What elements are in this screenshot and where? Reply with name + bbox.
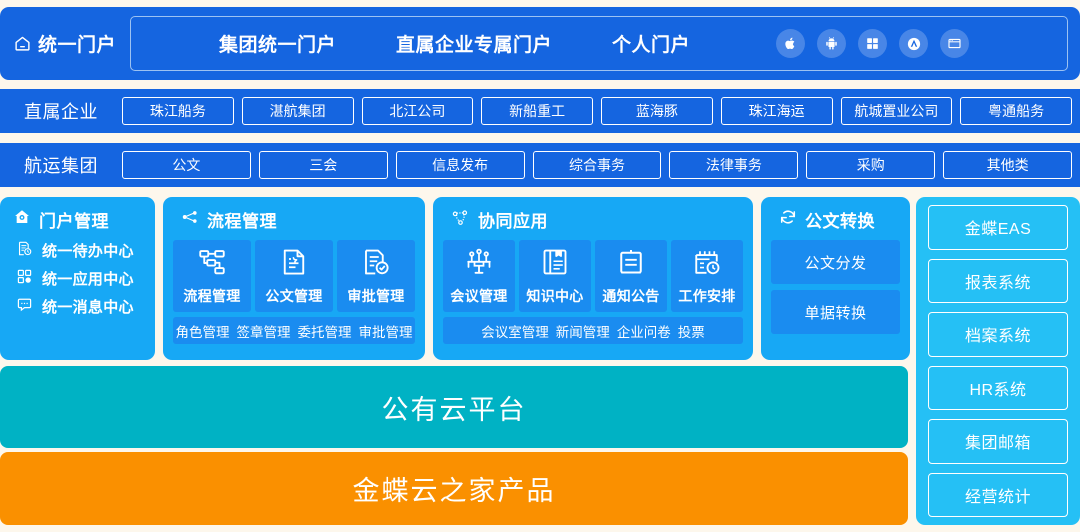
card-title-label: 协同应用 (478, 207, 548, 232)
header-tabbar: 集团统一门户 直属企业专属门户 个人门户 (130, 16, 1068, 71)
bar-label: 金蝶云之家产品 (353, 469, 556, 508)
home-gear-icon (13, 208, 31, 231)
sub-item-meeting-room-management[interactable]: 会议室管理 (481, 321, 549, 341)
tile-meeting-management[interactable]: 会议管理 (443, 240, 515, 312)
nav-btn-subsidiary-0[interactable]: 珠江船务 (122, 97, 234, 125)
sidebar-item-kingdee-eas[interactable]: 金蝶EAS (928, 205, 1068, 250)
collab-tiles: 会议管理 知识中心 (443, 240, 743, 312)
sidebar-item-business-statistics[interactable]: 经营统计 (928, 473, 1068, 518)
tab-personal-portal[interactable]: 个人门户 (582, 30, 720, 57)
nav-row-subsidiaries: 直属企业 珠江船务 湛航集团 北江公司 新船重工 蓝海豚 珠江海运 航城置业公司… (0, 89, 1080, 133)
tile-label: 工作安排 (678, 286, 735, 306)
announcement-board-icon (616, 247, 646, 282)
book-icon (540, 247, 570, 282)
card-document-conversion: 公文转换 公文分发 单据转换 (761, 197, 910, 360)
sub-item-enterprise-survey[interactable]: 企业问卷 (617, 321, 671, 341)
home-icon (14, 35, 31, 52)
tile-label: 公文管理 (265, 286, 322, 306)
todo-list-clock-icon (16, 240, 33, 261)
browser-window-icon[interactable] (940, 29, 969, 58)
sidebar-item-hr-system[interactable]: HR系统 (928, 366, 1068, 411)
document-conversion-buttons: 公文分发 单据转换 (771, 240, 900, 334)
tile-work-schedule[interactable]: 工作安排 (671, 240, 743, 312)
app-grid-icon (16, 268, 33, 289)
card-title-label: 流程管理 (207, 207, 277, 232)
flow-node-icon (181, 208, 199, 231)
portal-architecture-diagram: 统一门户 集团统一门户 直属企业专属门户 个人门户 (0, 0, 1080, 532)
sidebar-item-report-system[interactable]: 报表系统 (928, 259, 1068, 304)
bar-kingdee-cloud-home-product: 金蝶云之家产品 (0, 452, 908, 525)
nav-items-subsidiaries: 珠江船务 湛航集团 北江公司 新船重工 蓝海豚 珠江海运 航城置业公司 粤通船务 (122, 97, 1080, 125)
calendar-clock-icon (692, 247, 722, 282)
brand: 统一门户 (0, 30, 130, 57)
nav-btn-subsidiary-6[interactable]: 航城置业公司 (841, 97, 953, 125)
nav-btn-category-6[interactable]: 其他类 (943, 151, 1072, 179)
tile-document-management[interactable]: 公文管理 (255, 240, 333, 312)
conv-btn-voucher-conversion[interactable]: 单据转换 (771, 290, 900, 334)
nav-btn-category-1[interactable]: 三会 (259, 151, 388, 179)
apple-icon[interactable] (776, 29, 805, 58)
document-check-icon (361, 247, 391, 282)
windows-icon[interactable] (858, 29, 887, 58)
header-bar: 统一门户 集团统一门户 直属企业专属门户 个人门户 (0, 7, 1080, 80)
nav-items-shipping-group: 公文 三会 信息发布 综合事务 法律事务 采购 其他类 (122, 151, 1080, 179)
portal-item-label: 统一待办中心 (42, 240, 134, 261)
collab-sub-items: 会议室管理 新闻管理 企业问卷 投票 (443, 317, 743, 344)
external-systems-sidebar: 金蝶EAS 报表系统 档案系统 HR系统 集团邮箱 经营统计 (916, 197, 1080, 525)
sidebar-item-archive-system[interactable]: 档案系统 (928, 312, 1068, 357)
portal-item-message-center[interactable]: 统一消息中心 (16, 296, 145, 317)
share-nodes-icon (451, 208, 470, 232)
nav-row-label-shipping-group: 航运集团 (0, 152, 122, 178)
appstore-icon[interactable] (899, 29, 928, 58)
document-icon (279, 247, 309, 282)
tile-label: 审批管理 (347, 286, 404, 306)
card-title-portal-management: 门户管理 (10, 207, 145, 232)
process-tiles: 流程管理 公文管理 (173, 240, 415, 312)
bar-public-cloud-platform: 公有云平台 (0, 366, 908, 448)
nav-row-label-subsidiaries: 直属企业 (0, 98, 122, 124)
flowchart-icon (197, 247, 227, 282)
refresh-sync-icon (779, 208, 797, 231)
nav-btn-subsidiary-4[interactable]: 蓝海豚 (601, 97, 713, 125)
card-title-collaborative-application: 协同应用 (443, 207, 743, 232)
portal-item-todo-center[interactable]: 统一待办中心 (16, 240, 145, 261)
nav-btn-category-5[interactable]: 采购 (806, 151, 935, 179)
module-cards: 门户管理 统一待办中心 (0, 197, 908, 360)
sub-item-delegate-management[interactable]: 委托管理 (298, 321, 352, 341)
process-sub-items: 角色管理 签章管理 委托管理 审批管理 (173, 317, 415, 344)
sub-item-vote[interactable]: 投票 (678, 321, 705, 341)
tile-label: 会议管理 (450, 286, 507, 306)
nav-btn-category-0[interactable]: 公文 (122, 151, 251, 179)
portal-item-label: 统一消息中心 (42, 296, 134, 317)
card-title-document-conversion: 公文转换 (771, 207, 900, 232)
nav-btn-subsidiary-2[interactable]: 北江公司 (362, 97, 474, 125)
tile-label: 知识中心 (526, 286, 583, 306)
brand-label: 统一门户 (38, 30, 116, 57)
nav-btn-category-4[interactable]: 法律事务 (669, 151, 798, 179)
conv-btn-document-distribution[interactable]: 公文分发 (771, 240, 900, 284)
tile-process-management[interactable]: 流程管理 (173, 240, 251, 312)
nav-btn-subsidiary-7[interactable]: 粤通船务 (960, 97, 1072, 125)
meeting-people-icon (464, 247, 494, 282)
bar-label: 公有云平台 (382, 388, 527, 427)
tile-approval-management[interactable]: 审批管理 (337, 240, 415, 312)
card-title-process-management: 流程管理 (173, 207, 415, 232)
card-title-label: 门户管理 (39, 207, 109, 232)
sidebar-item-group-mailbox[interactable]: 集团邮箱 (928, 419, 1068, 464)
card-title-label: 公文转换 (805, 207, 875, 232)
portal-management-list: 统一待办中心 统一应用中心 (10, 240, 145, 317)
nav-btn-category-2[interactable]: 信息发布 (396, 151, 525, 179)
portal-tabs: 集团统一门户 直属企业专属门户 个人门户 (131, 30, 720, 57)
tab-group-portal[interactable]: 集团统一门户 (131, 30, 366, 57)
nav-btn-subsidiary-5[interactable]: 珠江海运 (721, 97, 833, 125)
card-collaborative-application: 协同应用 (433, 197, 753, 360)
tile-label: 流程管理 (183, 286, 240, 306)
nav-btn-subsidiary-1[interactable]: 湛航集团 (242, 97, 354, 125)
nav-btn-subsidiary-3[interactable]: 新船重工 (481, 97, 593, 125)
tile-knowledge-center[interactable]: 知识中心 (519, 240, 591, 312)
android-icon[interactable] (817, 29, 846, 58)
card-process-management: 流程管理 流程管理 (163, 197, 425, 360)
nav-row-shipping-group: 航运集团 公文 三会 信息发布 综合事务 法律事务 采购 其他类 (0, 143, 1080, 187)
tab-subsidiary-portal[interactable]: 直属企业专属门户 (366, 30, 582, 57)
tile-notice-announcement[interactable]: 通知公告 (595, 240, 667, 312)
nav-btn-category-3[interactable]: 综合事务 (533, 151, 662, 179)
sub-item-seal-management[interactable]: 签章管理 (237, 321, 291, 341)
message-bubble-icon (16, 296, 33, 317)
portal-item-label: 统一应用中心 (42, 268, 134, 289)
platform-icons (776, 29, 969, 58)
sub-item-role-management[interactable]: 角色管理 (176, 321, 230, 341)
sub-item-approval-management[interactable]: 审批管理 (359, 321, 413, 341)
portal-item-app-center[interactable]: 统一应用中心 (16, 268, 145, 289)
sub-item-news-management[interactable]: 新闻管理 (556, 321, 610, 341)
tile-label: 通知公告 (602, 286, 659, 306)
card-portal-management: 门户管理 统一待办中心 (0, 197, 155, 360)
